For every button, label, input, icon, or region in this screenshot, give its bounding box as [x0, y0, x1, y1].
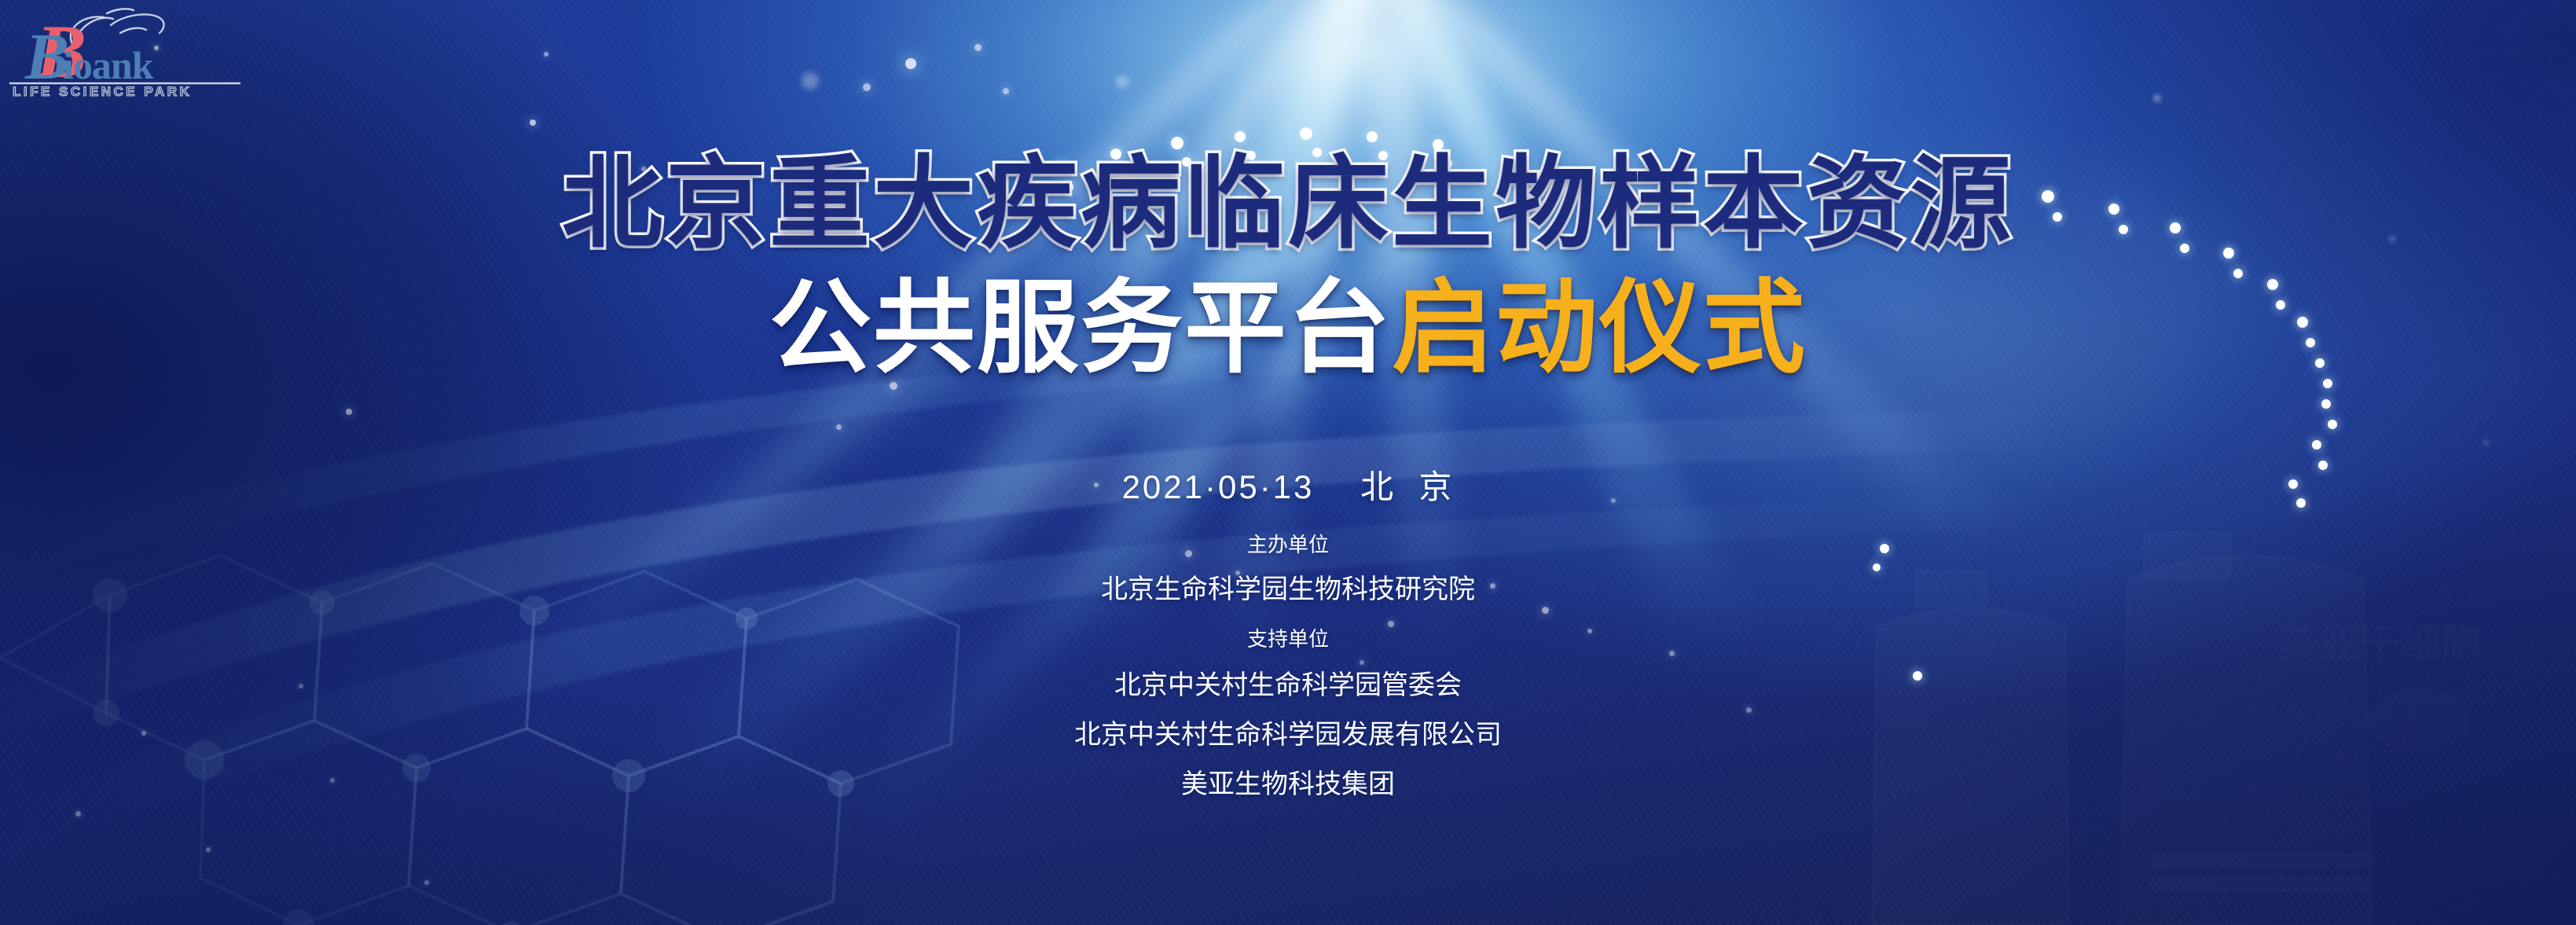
- background-vignette: [0, 0, 2576, 925]
- logo-wordmark: ioank: [63, 43, 154, 87]
- biobank-logo[interactable]: B B ioank LIFE SCIENCE PARK: [8, 6, 267, 97]
- logo-tagline: LIFE SCIENCE PARK: [13, 84, 192, 97]
- event-banner: 美亚干细胞: [0, 0, 2576, 925]
